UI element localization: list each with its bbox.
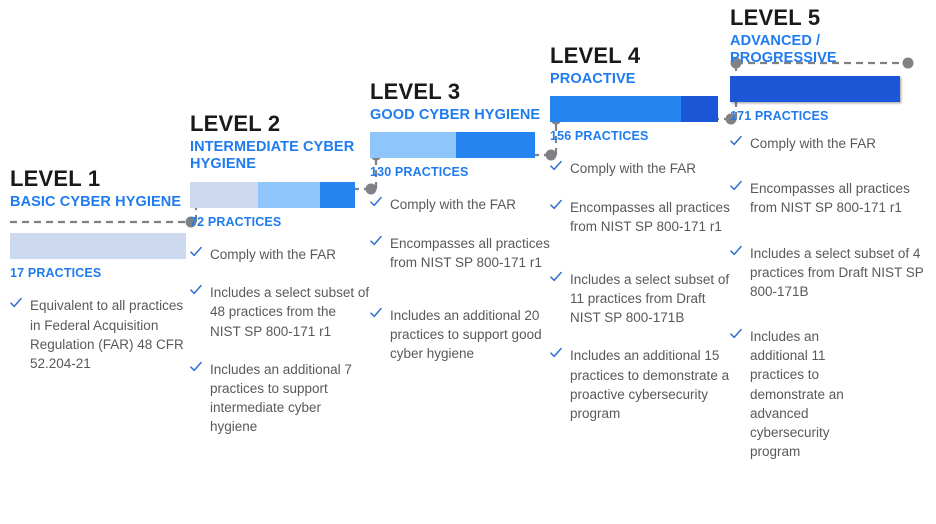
level-2-practices-count: 72 PRACTICES bbox=[190, 215, 370, 229]
list-item: Encompasses all practices from NIST SP 8… bbox=[550, 198, 732, 236]
bullet-text: Equivalent to all practices in Federal A… bbox=[30, 298, 184, 370]
bullet-text: Encompasses all practices from NIST SP 8… bbox=[570, 200, 730, 234]
level-1-subtitle: BASIC CYBER HYGIENE bbox=[10, 194, 190, 212]
list-item: Includes an additional 7 practices to su… bbox=[190, 360, 370, 437]
level-3-bar-segment-1 bbox=[370, 132, 456, 158]
level-2-bar-segment-1 bbox=[190, 182, 258, 208]
list-item: Comply with the FAR bbox=[550, 159, 732, 178]
level-1-practices-count: 17 PRACTICES bbox=[10, 266, 190, 280]
level-1-title: LEVEL 1 bbox=[10, 167, 190, 191]
level-1-bar bbox=[10, 233, 186, 259]
bullet-text: Includes an additional 15 practices to d… bbox=[570, 348, 729, 420]
list-item: Encompasses all practices from NIST SP 8… bbox=[730, 179, 926, 217]
level-4-practices-count: 156 PRACTICES bbox=[550, 129, 732, 143]
check-icon bbox=[190, 284, 202, 296]
level-5-subtitle: ADVANCED / PROGRESSIVE bbox=[730, 33, 926, 68]
level-4-bar bbox=[550, 96, 718, 122]
check-icon bbox=[550, 347, 562, 359]
level-2-subtitle: INTERMEDIATE CYBER HYGIENE bbox=[190, 139, 370, 174]
bullet-text: Includes an additional 11 practices to d… bbox=[750, 329, 844, 459]
check-icon bbox=[730, 245, 742, 257]
level-3-title: LEVEL 3 bbox=[370, 80, 552, 104]
level-3-bullet-list: Comply with the FAR Encompasses all prac… bbox=[370, 195, 552, 363]
check-icon bbox=[370, 196, 382, 208]
bullet-text: Comply with the FAR bbox=[570, 161, 696, 176]
level-5-bullet-list: Comply with the FAR Encompasses all prac… bbox=[730, 134, 926, 461]
level-card-2: LEVEL 2 INTERMEDIATE CYBER HYGIENE 72 PR… bbox=[190, 112, 370, 455]
level-2-bar-segment-3 bbox=[320, 182, 355, 208]
check-icon bbox=[10, 297, 22, 309]
level-5-bar bbox=[730, 76, 900, 102]
list-item: Includes a select subset of 48 practices… bbox=[190, 283, 370, 340]
bullet-text: Encompasses all practices from NIST SP 8… bbox=[750, 181, 910, 215]
bullet-text: Includes a select subset of 11 practices… bbox=[570, 272, 729, 325]
list-item: Comply with the FAR bbox=[730, 134, 926, 153]
level-5-bar-segment-1 bbox=[730, 76, 900, 102]
list-item: Includes an additional 15 practices to d… bbox=[550, 346, 732, 423]
level-3-bar bbox=[370, 132, 535, 158]
cmmc-maturity-levels-diagram: LEVEL 1 BASIC CYBER HYGIENE 17 PRACTICES… bbox=[0, 0, 936, 524]
level-2-bar bbox=[190, 182, 355, 208]
level-1-bar-segment-1 bbox=[10, 233, 186, 259]
bullet-text: Includes a select subset of 48 practices… bbox=[210, 285, 369, 338]
level-4-bar-segment-2 bbox=[681, 96, 718, 122]
level-4-bullet-list: Comply with the FAR Encompasses all prac… bbox=[550, 159, 732, 423]
bullet-text: Comply with the FAR bbox=[210, 247, 336, 262]
level-3-practices-count: 130 PRACTICES bbox=[370, 165, 552, 179]
bullet-text: Includes a select subset of 4 practices … bbox=[750, 246, 924, 299]
check-icon bbox=[550, 199, 562, 211]
level-4-title: LEVEL 4 bbox=[550, 44, 732, 68]
check-icon bbox=[370, 235, 382, 247]
list-item: Includes an additional 20 practices to s… bbox=[370, 306, 552, 363]
list-item: Comply with the FAR bbox=[370, 195, 552, 214]
list-item: Equivalent to all practices in Federal A… bbox=[10, 296, 190, 373]
level-card-1: LEVEL 1 BASIC CYBER HYGIENE 17 PRACTICES… bbox=[10, 167, 190, 392]
list-item: Includes a select subset of 11 practices… bbox=[550, 270, 732, 327]
check-icon bbox=[190, 246, 202, 258]
level-card-3: LEVEL 3 GOOD CYBER HYGIENE 130 PRACTICES… bbox=[370, 80, 552, 382]
level-5-practices-count: 171 PRACTICES bbox=[730, 109, 926, 123]
bullet-text: Encompasses all practices from NIST SP 8… bbox=[390, 236, 550, 270]
level-3-subtitle: GOOD CYBER HYGIENE bbox=[370, 107, 552, 125]
bullet-text: Comply with the FAR bbox=[750, 136, 876, 151]
level-card-5: LEVEL 5 ADVANCED / PROGRESSIVE 171 PRACT… bbox=[730, 0, 926, 480]
list-item: Encompasses all practices from NIST SP 8… bbox=[370, 234, 552, 272]
level-1-bullet-list: Equivalent to all practices in Federal A… bbox=[10, 296, 190, 373]
check-icon bbox=[190, 361, 202, 373]
level-2-bullet-list: Comply with the FAR Includes a select su… bbox=[190, 245, 370, 436]
check-icon bbox=[730, 180, 742, 192]
check-icon bbox=[550, 271, 562, 283]
bullet-text: Includes an additional 7 practices to su… bbox=[210, 362, 352, 434]
level-4-subtitle: PROACTIVE bbox=[550, 71, 732, 89]
check-icon bbox=[730, 135, 742, 147]
level-4-bar-segment-1 bbox=[550, 96, 681, 122]
bullet-text: Comply with the FAR bbox=[390, 197, 516, 212]
check-icon bbox=[730, 328, 742, 340]
level-3-bar-segment-2 bbox=[456, 132, 535, 158]
check-icon bbox=[370, 307, 382, 319]
bullet-text: Includes an additional 20 practices to s… bbox=[390, 308, 542, 361]
list-item: Includes an additional 11 practices to d… bbox=[730, 327, 926, 461]
level-5-title: LEVEL 5 bbox=[730, 6, 926, 30]
level-2-title: LEVEL 2 bbox=[190, 112, 370, 136]
list-item: Includes a select subset of 4 practices … bbox=[730, 244, 926, 301]
check-icon bbox=[550, 160, 562, 172]
list-item: Comply with the FAR bbox=[190, 245, 370, 264]
level-2-bar-segment-2 bbox=[258, 182, 321, 208]
level-card-4: LEVEL 4 PROACTIVE 156 PRACTICES Comply w… bbox=[550, 44, 732, 442]
